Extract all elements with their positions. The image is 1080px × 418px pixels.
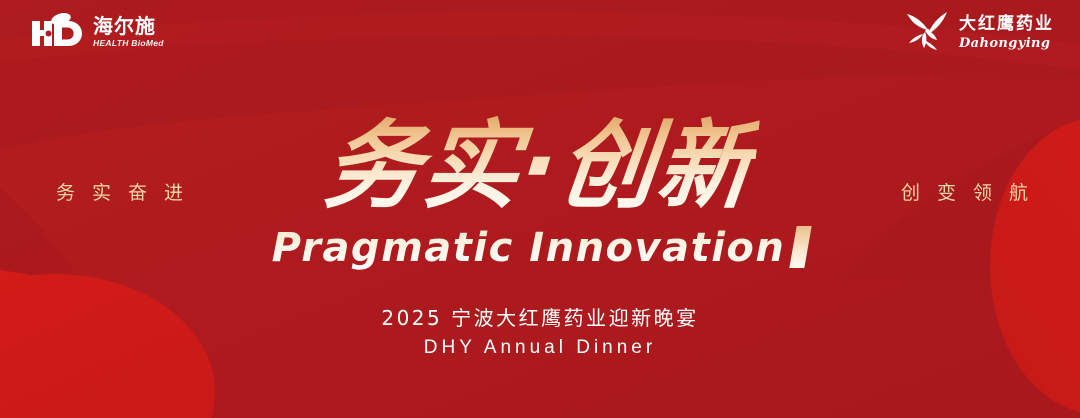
event-banner: 海尔施 HEALTH BioMed 大红鹰药业 Dahongying [0,0,1080,418]
headline: 务实·创新 [0,116,1080,216]
eagle-icon [901,10,953,56]
event-name-en: DHY Annual Dinner [0,337,1080,359]
logo-dahongying: 大红鹰药业 Dahongying [901,8,1054,58]
subtitle-text: Pragmatic Innovation [272,224,786,272]
logo-left-cn: 海尔施 [93,16,164,36]
logo-right-en: Dahongying [959,37,1054,50]
headline-text: 务实·创新 [320,116,761,216]
subtitle-accent-bar [790,226,812,268]
subtitle: Pragmatic Innovation [0,224,1080,272]
logo-right-cn: 大红鹰药业 [959,16,1054,33]
logo-health-biomed: 海尔施 HEALTH BioMed [28,10,164,54]
event-name-cn: 2025 宁波大红鹰药业迎新晚宴 [0,302,1080,331]
logo-left-en: HEALTH BioMed [93,39,164,48]
hd-monogram-icon [28,13,86,51]
